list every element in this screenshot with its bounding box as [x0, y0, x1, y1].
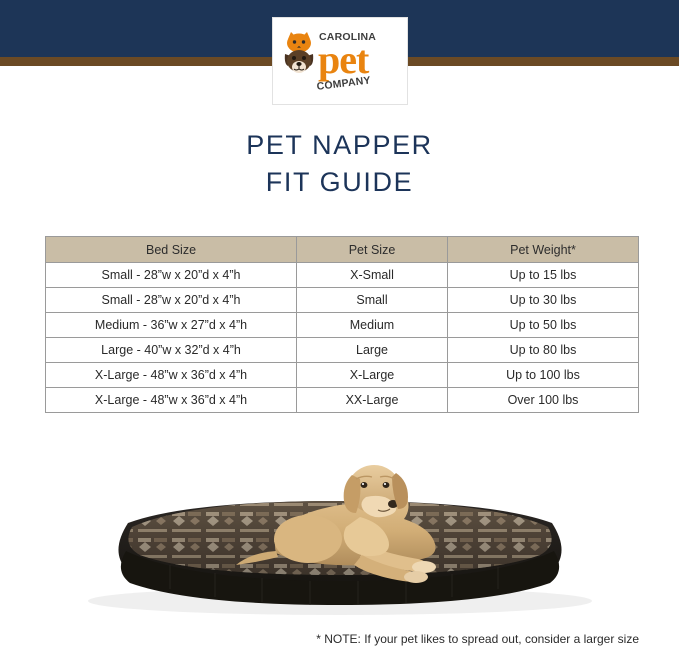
table-row: Small - 28”w x 20”d x 4”h Small Up to 30… [46, 288, 639, 313]
cell-pet-weight: Up to 100 lbs [448, 363, 639, 388]
table-row: Medium - 36”w x 27”d x 4”h Medium Up to … [46, 313, 639, 338]
dog-on-bed-illustration [0, 405, 679, 620]
cell-bed-size: Small - 28”w x 20”d x 4”h [46, 288, 297, 313]
dog-cat-logo-icon [282, 30, 318, 78]
page-title-line2: FIT GUIDE [0, 167, 679, 198]
footnote-text: * NOTE: If your pet likes to spread out,… [0, 632, 679, 646]
cell-pet-weight: Up to 50 lbs [448, 313, 639, 338]
cell-bed-size: X-Large - 48”w x 36”d x 4”h [46, 363, 297, 388]
cell-pet-size: Medium [297, 313, 448, 338]
cell-pet-weight: Up to 30 lbs [448, 288, 639, 313]
table-row: X-Large - 48”w x 36”d x 4”h X-Large Up t… [46, 363, 639, 388]
cell-pet-size: Small [297, 288, 448, 313]
brand-logo: CAROLINA pet COMPANY [272, 17, 408, 105]
cell-bed-size: Small - 28”w x 20”d x 4”h [46, 263, 297, 288]
fit-guide-page: CAROLINA pet COMPANY PET NAPPER FIT GUID… [0, 0, 679, 654]
cell-pet-size: X-Small [297, 263, 448, 288]
cell-bed-size: Large - 40”w x 32”d x 4”h [46, 338, 297, 363]
logo-text-pet: pet [318, 40, 368, 80]
cell-bed-size: Medium - 36”w x 27”d x 4”h [46, 313, 297, 338]
cell-pet-size: Large [297, 338, 448, 363]
table-row: Large - 40”w x 32”d x 4”h Large Up to 80… [46, 338, 639, 363]
cell-pet-weight: Up to 80 lbs [448, 338, 639, 363]
column-header-pet-size: Pet Size [297, 237, 448, 263]
column-header-pet-weight: Pet Weight* [448, 237, 639, 263]
fit-guide-table: Bed Size Pet Size Pet Weight* Small - 28… [45, 236, 639, 413]
table-row: Small - 28”w x 20”d x 4”h X-Small Up to … [46, 263, 639, 288]
cell-pet-weight: Up to 15 lbs [448, 263, 639, 288]
cell-pet-size: X-Large [297, 363, 448, 388]
product-photo [0, 405, 679, 620]
page-title-line1: PET NAPPER [0, 130, 679, 161]
table-header-row: Bed Size Pet Size Pet Weight* [46, 237, 639, 263]
column-header-bed-size: Bed Size [46, 237, 297, 263]
